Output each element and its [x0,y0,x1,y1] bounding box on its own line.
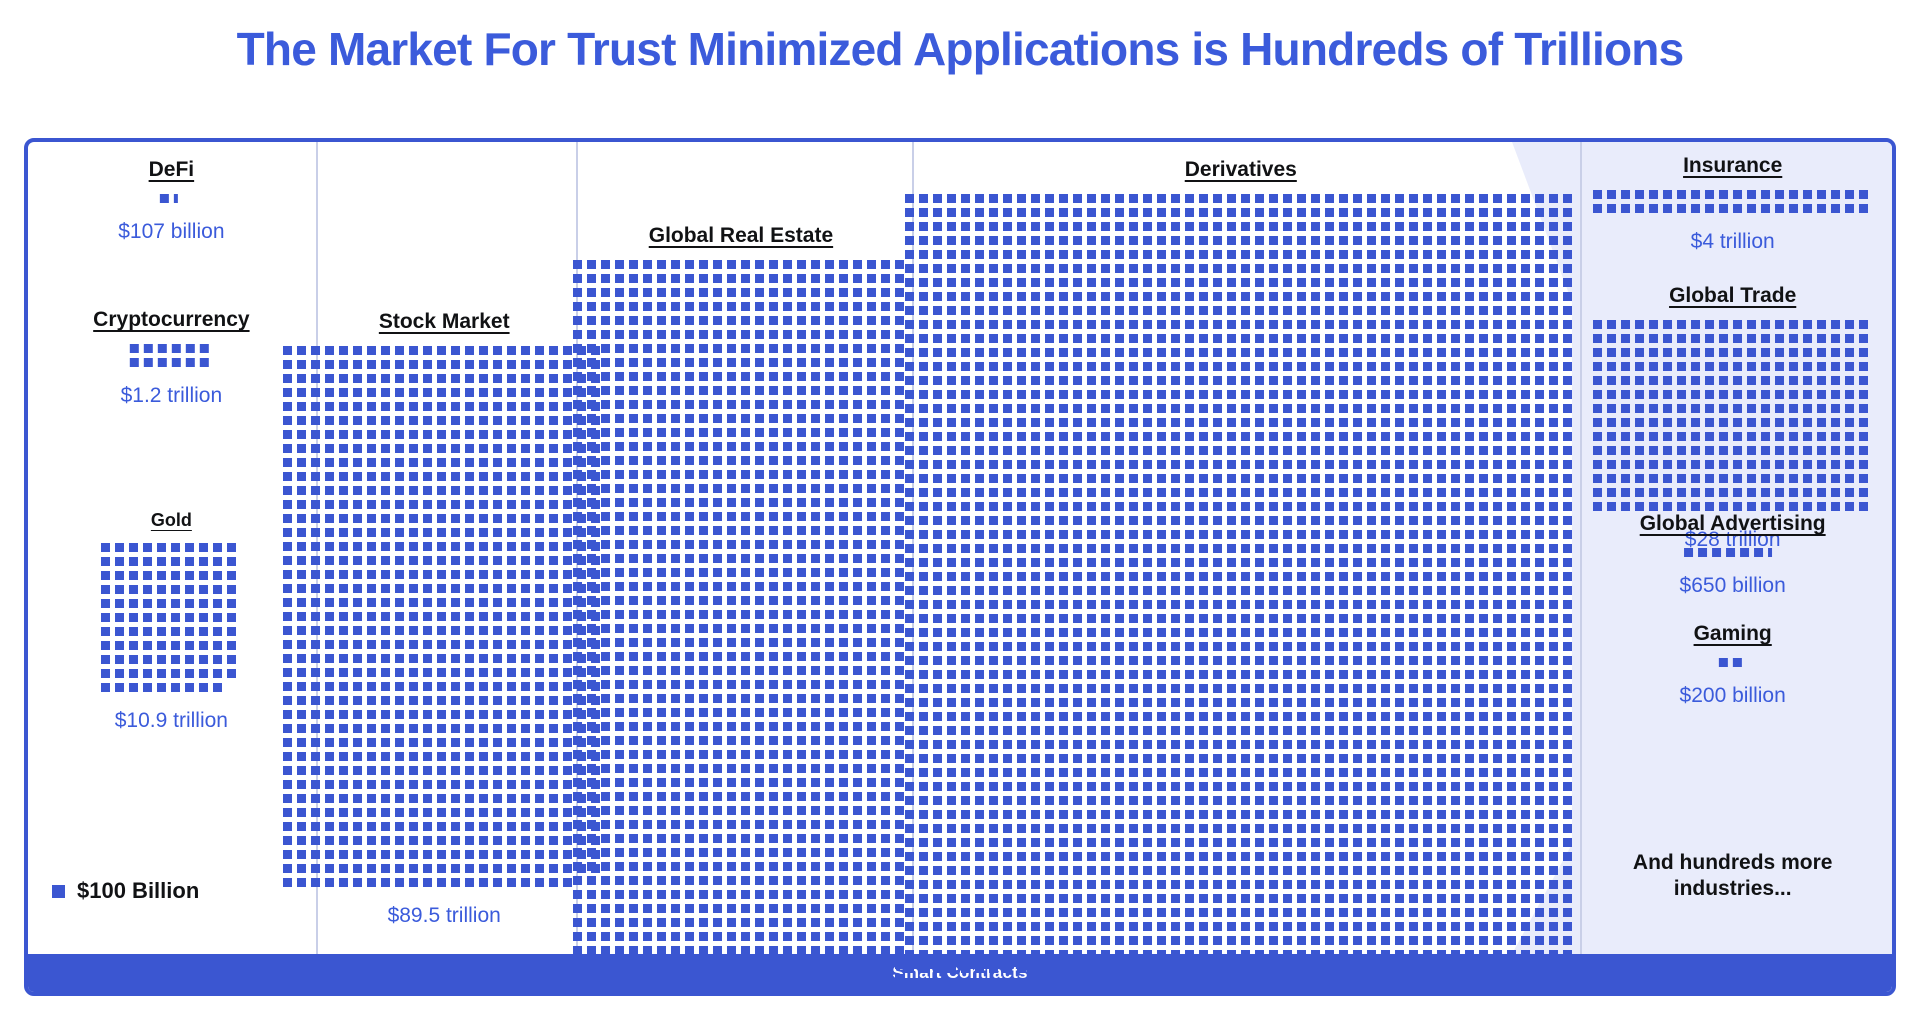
unit-square [1017,376,1026,385]
unit-square [1101,502,1110,511]
unit-square [601,904,610,913]
unit-square [727,694,736,703]
unit-square [409,500,418,509]
unit-square [657,372,666,381]
unit-square [1549,264,1558,273]
unit-square [297,878,306,887]
unit-square [853,974,862,983]
unit-square [1003,194,1012,203]
unit-square [685,302,694,311]
unit-square [643,722,652,731]
unit-square [601,876,610,885]
unit-square [895,792,904,801]
unit-square [1269,194,1278,203]
unit-square [839,946,848,955]
unit-square [437,878,446,887]
unit-square [1045,474,1054,483]
unit-square [629,694,638,703]
unit-square [1507,334,1516,343]
unit-square [1521,404,1530,413]
unit-square [129,655,138,664]
unit-square [573,330,582,339]
unit-square [741,820,750,829]
unit-square [811,722,820,731]
unit-square [741,806,750,815]
unit-square [1409,320,1418,329]
unit-square [1507,432,1516,441]
unit-square [1325,474,1334,483]
unit-square [867,414,876,423]
unit-square [1213,292,1222,301]
unit-square [919,334,928,343]
unit-square [1059,460,1068,469]
group-label-stock-market: Stock Market [283,310,605,334]
unit-square [1003,236,1012,245]
unit-square [1395,404,1404,413]
unit-square [839,582,848,591]
unit-square [1101,390,1110,399]
unit-square [671,442,680,451]
unit-square [713,386,722,395]
unit-square [615,904,624,913]
unit-square [563,500,572,509]
unit-square [353,654,362,663]
unit-square [1563,334,1572,343]
unit-square [839,848,848,857]
unit-square [1339,208,1348,217]
unit-square [339,668,348,677]
unit-square [1255,306,1264,315]
unit-square [797,610,806,619]
unit-square [1269,250,1278,259]
unit-square [1297,390,1306,399]
unit-square [587,400,596,409]
unit-square [797,946,806,955]
unit-square [1409,432,1418,441]
unit-square [1507,264,1516,273]
unit-square [685,540,694,549]
unit-square [881,386,890,395]
unit-square [615,344,624,353]
unit-square [839,932,848,941]
unit-square [1353,348,1362,357]
unit-square [629,876,638,885]
unit-square [1003,292,1012,301]
unit-square [1521,250,1530,259]
unit-square [1549,320,1558,329]
unit-square [797,750,806,759]
unit-square [853,540,862,549]
unit-square [395,626,404,635]
unit-square [1255,208,1264,217]
unit-square [1493,460,1502,469]
unit-square [643,260,652,269]
unit-square [1045,502,1054,511]
unit-square [905,390,914,399]
unit-square [755,932,764,941]
unit-square [1241,376,1250,385]
unit-square [1437,446,1446,455]
unit-square [465,850,474,859]
unit-square [1395,474,1404,483]
unit-square [755,848,764,857]
unit-square [1045,292,1054,301]
unit-square [1283,362,1292,371]
unit-square [1535,250,1544,259]
unit-square [1395,264,1404,273]
unit-square [699,988,708,996]
unit-square [297,444,306,453]
unit-square [839,736,848,745]
unit-square [783,736,792,745]
unit-square [947,362,956,371]
unit-square [853,876,862,885]
unit-square [671,526,680,535]
unit-square [297,430,306,439]
unit-square [853,372,862,381]
unit-square [727,708,736,717]
unit-square [881,526,890,535]
unit-square [1017,236,1026,245]
unit-square [727,834,736,843]
unit-square [395,822,404,831]
unit-square [601,470,610,479]
unit-square [437,486,446,495]
unit-square [1451,418,1460,427]
unit-square [1199,278,1208,287]
unit-square [811,400,820,409]
unit-square [1101,474,1110,483]
unit-square [1045,418,1054,427]
unit-square [423,724,432,733]
unit-square [1087,194,1096,203]
unit-square [493,864,502,873]
unit-square [283,500,292,509]
unit-square [643,778,652,787]
unit-square [755,442,764,451]
unit-square [881,554,890,563]
unit-square [573,862,582,871]
unit-square [629,918,638,927]
unit-square [1073,362,1082,371]
unit-square [1115,306,1124,315]
unit-square [493,752,502,761]
unit-square [853,316,862,325]
unit-square [451,808,460,817]
unit-square [1031,376,1040,385]
unit-square [629,386,638,395]
unit-square [129,683,138,692]
unit-square [325,374,334,383]
unit-square [1115,320,1124,329]
unit-square [479,738,488,747]
unit-square [1451,250,1460,259]
unit-square [741,890,750,899]
unit-square [465,836,474,845]
unit-square [587,330,596,339]
unit-square [1115,264,1124,273]
unit-square [615,946,624,955]
unit-square [129,627,138,636]
unit-square [1115,432,1124,441]
unit-square [1493,418,1502,427]
unit-square [1115,390,1124,399]
unit-square [657,708,666,717]
unit-square [353,374,362,383]
unit-square [1227,348,1236,357]
unit-square [283,360,292,369]
unit-square [699,960,708,969]
unit-square [423,626,432,635]
unit-square [1423,390,1432,399]
unit-square [549,458,558,467]
unit-square [643,428,652,437]
unit-square [325,724,334,733]
unit-square [1017,306,1026,315]
unit-square [437,626,446,635]
unit-square [409,612,418,621]
unit-square [367,556,376,565]
unit-square [713,666,722,675]
unit-square [587,694,596,703]
unit-square [741,638,750,647]
unit-square [395,850,404,859]
unit-square [465,822,474,831]
unit-square [1283,320,1292,329]
group-global-real-estate: Global Real Estate $280.6 trillion [573,224,909,996]
unit-square [825,862,834,871]
unit-square [1087,236,1096,245]
unit-square [671,904,680,913]
unit-square [905,334,914,343]
unit-square [549,878,558,887]
unit-square [1171,264,1180,273]
unit-square [1115,208,1124,217]
unit-square [895,778,904,787]
unit-square [671,330,680,339]
unit-square [741,386,750,395]
unit-square [1479,334,1488,343]
unit-square [1395,432,1404,441]
unit-square [755,274,764,283]
unit-square [1549,502,1558,511]
unit-square [199,599,208,608]
unit-square [521,388,530,397]
unit-square [1283,250,1292,259]
unit-square [101,669,110,678]
unit-square [1353,306,1362,315]
unit-square [1437,278,1446,287]
unit-square [283,584,292,593]
unit-square [1395,362,1404,371]
unit-square [367,388,376,397]
unit-square [1045,222,1054,231]
unit-square [1521,208,1530,217]
unit-square [465,612,474,621]
unit-square [989,320,998,329]
unit-square [1255,390,1264,399]
unit-square [1479,362,1488,371]
unit-square [157,557,166,566]
unit-square [947,236,956,245]
unit-square [573,876,582,885]
unit-square [881,414,890,423]
unit-square [961,306,970,315]
unit-square [1339,376,1348,385]
unit-square [947,488,956,497]
unit-square [1535,446,1544,455]
unit-square [409,374,418,383]
unit-square [881,512,890,521]
unit-square [615,974,624,983]
unit-square [143,358,152,367]
unit-square [811,470,820,479]
unit-square [811,260,820,269]
unit-square [629,708,638,717]
unit-square [1199,376,1208,385]
unit-square [741,442,750,451]
unit-square [1535,264,1544,273]
unit-square [989,418,998,427]
unit-square [783,260,792,269]
unit-square [573,344,582,353]
unit-square [601,666,610,675]
unit-square [1339,306,1348,315]
unit-square [1465,348,1474,357]
unit-square [727,470,736,479]
unit-square [1171,292,1180,301]
unit-square [975,306,984,315]
unit-square [727,960,736,969]
unit-square [395,724,404,733]
unit-square [783,680,792,689]
unit-square [297,822,306,831]
unit-square [325,346,334,355]
unit-square [1437,292,1446,301]
unit-square [563,808,572,817]
unit-square [601,988,610,996]
unit-square [437,654,446,663]
unit-square [1339,292,1348,301]
unit-square [1129,404,1138,413]
unit-square [587,260,596,269]
unit-square [437,780,446,789]
unit-square [587,596,596,605]
unit-square [465,626,474,635]
unit-square [573,610,582,619]
unit-square [353,486,362,495]
unit-square [283,416,292,425]
unit-square [395,598,404,607]
unit-square [685,638,694,647]
unit-square [769,708,778,717]
unit-square [671,470,680,479]
unit-square [989,194,998,203]
unit-square [297,780,306,789]
unit-square [535,486,544,495]
unit-square [479,850,488,859]
unit-square [479,486,488,495]
unit-square [1255,488,1264,497]
unit-square [769,764,778,773]
unit-square [601,358,610,367]
unit-square [811,554,820,563]
unit-square [367,710,376,719]
unit-square [1535,292,1544,301]
unit-square [297,738,306,747]
unit-square [1185,334,1194,343]
unit-square [1115,502,1124,511]
unit-square [867,302,876,311]
unit-square [325,500,334,509]
unit-square [685,610,694,619]
unit-square [811,918,820,927]
unit-square [905,460,914,469]
unit-square [381,654,390,663]
unit-square [563,528,572,537]
unit-square [367,416,376,425]
unit-square [615,386,624,395]
unit-square [933,488,942,497]
group-label-defi: DeFi [118,158,224,182]
unit-square [493,486,502,495]
unit-square [895,610,904,619]
unit-square [919,250,928,259]
unit-square [657,344,666,353]
unit-square [769,316,778,325]
unit-square [479,822,488,831]
unit-square [395,556,404,565]
unit-square [643,442,652,451]
unit-square [629,302,638,311]
unit-square [297,388,306,397]
unit-square [933,460,942,469]
unit-square [671,890,680,899]
unit-square [1185,376,1194,385]
unit-square [895,568,904,577]
unit-square [1437,236,1446,245]
unit-square [1549,390,1558,399]
dot-grid-stock-market [283,346,605,892]
unit-square [1073,418,1082,427]
unit-square [1269,320,1278,329]
unit-square [671,498,680,507]
unit-square [769,792,778,801]
unit-square [1059,334,1068,343]
unit-square [741,988,750,996]
unit-square [699,372,708,381]
unit-square [1507,418,1516,427]
unit-square [297,500,306,509]
unit-square [283,668,292,677]
unit-square [601,638,610,647]
unit-square [1437,334,1446,343]
unit-square [1101,488,1110,497]
unit-square [839,694,848,703]
unit-square [615,540,624,549]
unit-square [171,571,180,580]
unit-square [671,568,680,577]
unit-square [811,610,820,619]
unit-square [1353,278,1362,287]
unit-square [755,736,764,745]
unit-square [507,458,516,467]
unit-square [1437,320,1446,329]
unit-square [853,470,862,479]
unit-square [601,624,610,633]
unit-square [311,360,320,369]
unit-square [867,484,876,493]
